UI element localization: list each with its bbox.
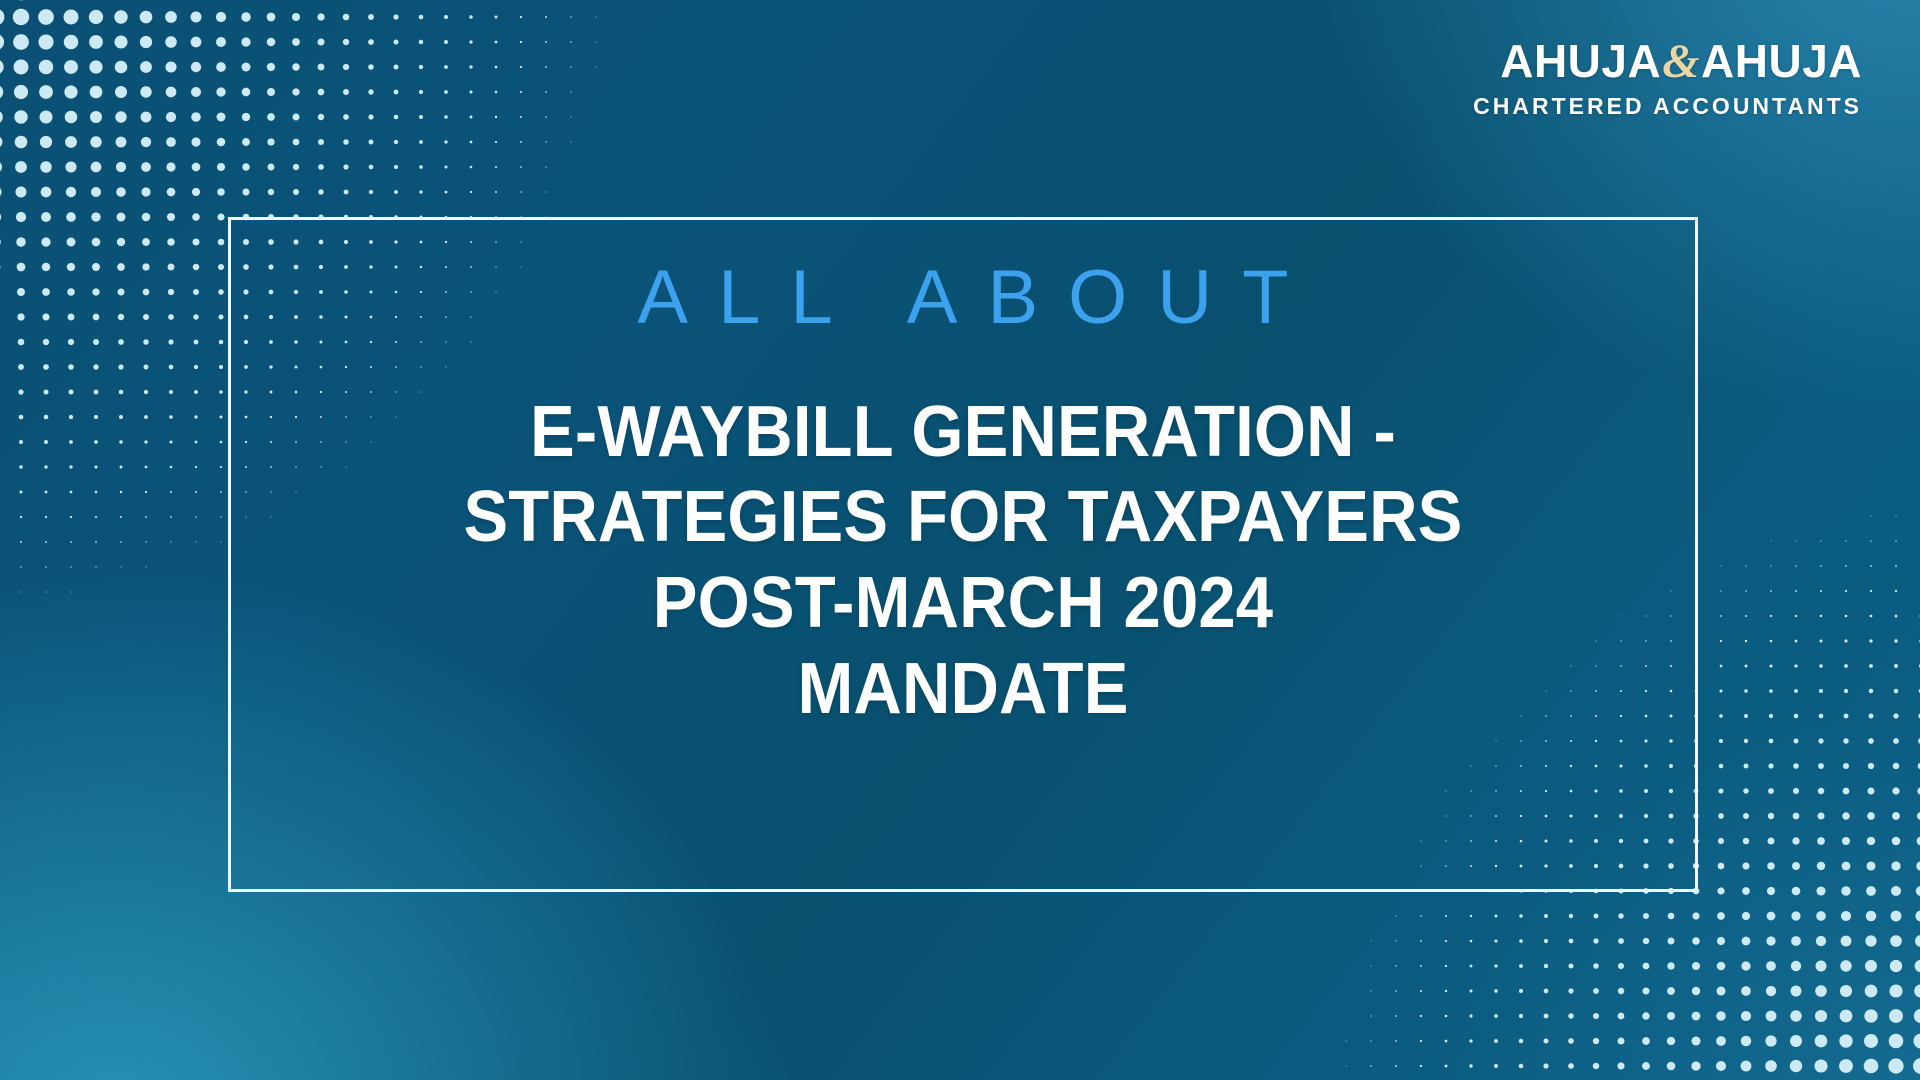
hero-kicker: ALL ABOUT xyxy=(607,258,1318,338)
poster-canvas: AHUJA&AHUJA CHARTERED ACCOUNTANTS ALL AB… xyxy=(0,0,1920,1080)
brand-tagline: CHARTERED ACCOUNTANTS xyxy=(1473,95,1862,118)
hero-headline: E-WAYBILL GENERATION - STRATEGIES FOR TA… xyxy=(231,390,1695,733)
brand-wordmark-right: AHUJA xyxy=(1701,35,1862,87)
brand-logo[interactable]: AHUJA&AHUJA CHARTERED ACCOUNTANTS xyxy=(1473,38,1862,118)
hero-frame: ALL ABOUT E-WAYBILL GENERATION - STRATEG… xyxy=(228,217,1698,892)
headline-line: STRATEGIES FOR TAXPAYERS xyxy=(299,475,1627,561)
headline-line: POST-MARCH 2024 xyxy=(299,561,1627,647)
brand-wordmark-left: AHUJA xyxy=(1500,35,1661,87)
brand-wordmark: AHUJA&AHUJA xyxy=(1473,38,1862,86)
ampersand-glyph: & xyxy=(1661,35,1701,88)
headline-line: MANDATE xyxy=(299,647,1627,733)
headline-line: E-WAYBILL GENERATION - xyxy=(299,390,1627,476)
